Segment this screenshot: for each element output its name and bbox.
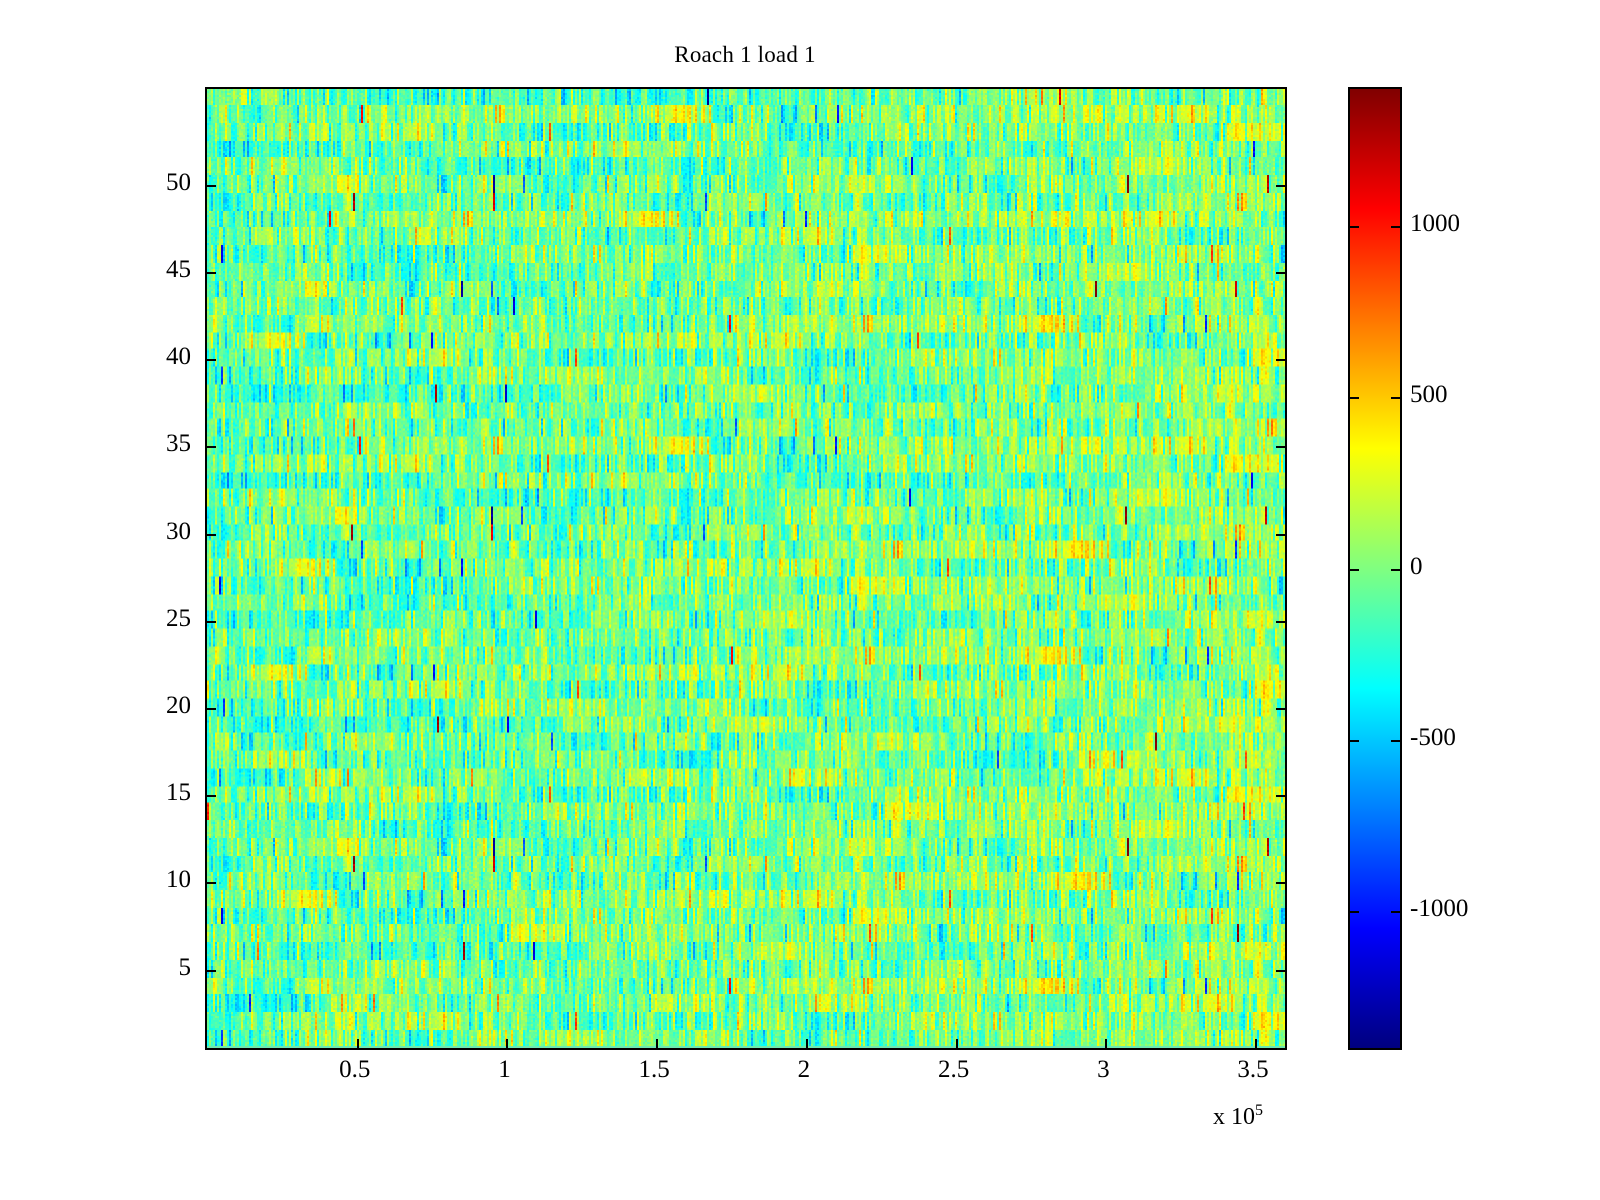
x-axis-tick-inner [656,1039,658,1048]
page-title: Roach 1 load 1 [0,42,1490,68]
x-axis-tick-label: 2 [798,1056,811,1084]
y-axis-tick-right [1276,446,1285,448]
x-axis-tick-inner [357,1039,359,1048]
x-axis-tick [806,1048,808,1050]
colorbar-tick-label: -1000 [1410,895,1468,923]
y-axis-tick-label: 30 [166,518,191,546]
y-axis-tick-inner [207,185,216,187]
y-axis-tick-inner [207,621,216,623]
y-axis-tick-right [1276,795,1285,797]
x-axis-tick-inner [956,1039,958,1048]
x-axis-tick-label: 2.5 [938,1056,969,1084]
y-axis-tick-label: 50 [166,169,191,197]
y-axis-tick-label: 25 [166,605,191,633]
colorbar-tick-right [1391,569,1400,571]
colorbar-tick-right [1391,226,1400,228]
x-axis-exponent-base: x 10 [1213,1104,1255,1130]
y-axis-tick-label: 15 [166,779,191,807]
y-axis-tick-label: 20 [166,692,191,720]
x-axis-tick-label: 3.5 [1237,1056,1268,1084]
y-axis-tick-right [1276,272,1285,274]
y-axis-tick-inner [207,970,216,972]
colorbar-tick-label: 1000 [1410,210,1460,238]
x-axis-tick [1255,1048,1257,1050]
x-axis-tick-inner [506,1039,508,1048]
y-axis-tick-right [1276,534,1285,536]
y-axis-tick-label: 40 [166,343,191,371]
colorbar[interactable] [1348,87,1402,1050]
y-axis-tick-label: 45 [166,256,191,284]
y-axis-tick-inner [207,534,216,536]
y-axis-tick-right [1276,708,1285,710]
colorbar-tick-left [1350,397,1359,399]
y-axis-tick-inner [207,359,216,361]
colorbar-tick-right [1391,397,1400,399]
x-axis-tick [357,1048,359,1050]
colorbar-tick-label: 0 [1410,553,1423,581]
colorbar-tick-right [1391,740,1400,742]
y-axis-tick-right [1276,621,1285,623]
colorbar-tick-left [1350,226,1359,228]
colorbar-tick-label: 500 [1410,381,1448,409]
colorbar-tick-label: -500 [1410,724,1456,752]
x-axis-tick-label: 1.5 [639,1056,670,1084]
y-axis-tick-right [1276,359,1285,361]
x-axis-exponent-power: 5 [1255,1102,1263,1119]
colorbar-tick-left [1350,911,1359,913]
y-axis-tick-right [1276,970,1285,972]
x-axis-tick-label: 3 [1097,1056,1110,1084]
y-axis-tick-inner [207,708,216,710]
y-axis-tick-inner [207,795,216,797]
heatmap-axes[interactable] [205,87,1287,1050]
figure-canvas: Roach 1 load 1 x 105 0.511.522.533.55101… [0,0,1600,1200]
x-axis-tick [656,1048,658,1050]
x-axis-exponent-label: x 105 [1213,1104,1263,1131]
y-axis-tick-inner [207,272,216,274]
x-axis-tick-inner [1255,1039,1257,1048]
y-axis-tick-label: 35 [166,430,191,458]
y-axis-tick-right [1276,882,1285,884]
x-axis-tick [956,1048,958,1050]
y-axis-tick-label: 10 [166,866,191,894]
colorbar-tick-right [1391,911,1400,913]
x-axis-tick [1105,1048,1107,1050]
y-axis-tick-label: 5 [179,954,192,982]
x-axis-tick-inner [1105,1039,1107,1048]
y-axis-tick-right [1276,185,1285,187]
y-axis-tick-inner [207,446,216,448]
x-axis-tick-label: 1 [498,1056,511,1084]
heatmap-image[interactable] [207,89,1285,1048]
x-axis-tick [506,1048,508,1050]
colorbar-tick-left [1350,569,1359,571]
y-axis-tick-inner [207,882,216,884]
colorbar-tick-left [1350,740,1359,742]
x-axis-tick-inner [806,1039,808,1048]
x-axis-tick-label: 0.5 [339,1056,370,1084]
